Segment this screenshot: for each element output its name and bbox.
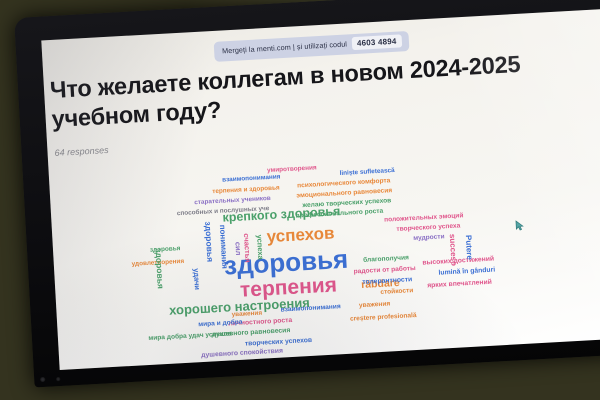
word-cloud-term: удачи (192, 268, 201, 290)
word-cloud-term: стойкости (380, 288, 413, 296)
mentimeter-slide: Mergeți la menti.com | și utilizați codu… (41, 7, 600, 370)
question-title: Что желаете коллегам в новом 2024-2025 у… (49, 44, 600, 134)
monitor-screen: Mergeți la menti.com | și utilizați codu… (41, 7, 600, 370)
word-cloud-term: уважения (359, 301, 391, 309)
word-cloud-term: мудрости (413, 234, 445, 242)
word-cloud: здоровьятерпенияуспеховкрепкого здоровья… (48, 125, 600, 368)
word-cloud-term: понимания (218, 224, 228, 269)
word-cloud-term: счастья (242, 233, 251, 263)
word-cloud-term: liniște sufletească (340, 168, 395, 177)
word-cloud-term: lumină în gânduri (438, 268, 495, 278)
word-cloud-term: благополучия (363, 255, 409, 264)
word-cloud-term: толерантности (362, 277, 412, 287)
menti-instruction-text: Mergeți la menti.com | și utilizați codu… (222, 39, 347, 55)
word-cloud-term: здоровья (204, 221, 215, 262)
word-cloud-term: взаимопонимания (222, 174, 281, 184)
bezel-sensor (56, 377, 60, 381)
word-cloud-term: creștere profesională (350, 313, 417, 323)
photograph-of-monitor: Mergeți la menti.com | și utilizați codu… (0, 0, 600, 400)
mouse-pointer-icon (515, 220, 525, 231)
word-cloud-term: радости от работы (354, 266, 416, 276)
word-cloud-term: здоровья (154, 248, 165, 289)
word-cloud-term: Putere (464, 235, 473, 260)
bezel-power-led (40, 377, 45, 382)
word-cloud-term: гармонии с самим собой (227, 357, 316, 369)
word-cloud-term: сил (234, 242, 242, 256)
word-cloud-term: ярких впечатлений (427, 280, 492, 290)
word-cloud-term: мира добра удач успехов (148, 331, 232, 342)
word-cloud-term: уважения (232, 311, 263, 319)
word-cloud-term: творческого успеха (396, 223, 460, 233)
monitor-bezel: Mergeți la menti.com | și utilizați codu… (14, 0, 600, 387)
word-cloud-term: успеха (255, 234, 264, 259)
word-cloud-term: succeso (448, 234, 458, 266)
menti-code-value: 4603 4894 (352, 34, 402, 50)
word-cloud-term: взаимопонимания (280, 304, 340, 314)
word-cloud-term: успехов (266, 224, 335, 245)
